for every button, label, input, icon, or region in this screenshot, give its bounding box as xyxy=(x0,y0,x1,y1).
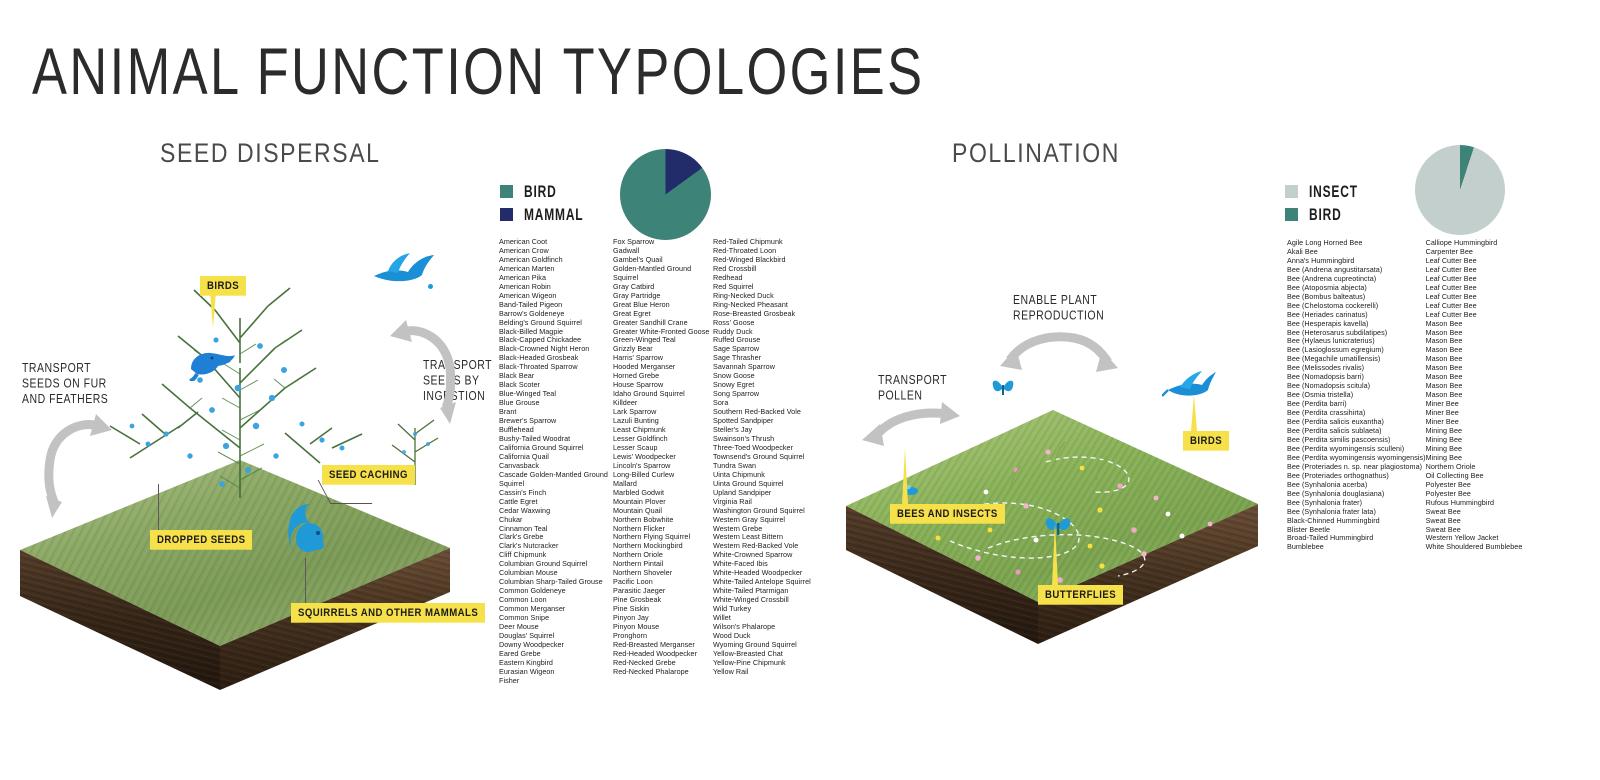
species-column-3: Red-Tailed ChipmunkRed-Throated LoonRed-… xyxy=(713,238,827,686)
species-column-1: American CootAmerican CrowAmerican Goldf… xyxy=(499,238,613,686)
arrow-line-1: TRANSPORT xyxy=(22,361,108,377)
legend-seed-dispersal: BIRD MAMMAL xyxy=(500,181,589,227)
species-item: Blue Grouse xyxy=(499,399,613,408)
section-title-seed-dispersal: SEED DISPERSAL xyxy=(160,137,381,169)
tag-butterflies-group: BUTTERFLIES xyxy=(1038,585,1123,602)
species-column-2: Fox SparrowGadwallGambel's QuailGolden-M… xyxy=(613,238,713,686)
legend-item-insect: INSECT xyxy=(1285,181,1362,201)
legend-label-insect: INSECT xyxy=(1309,182,1358,201)
tag-birds-group: BIRDS xyxy=(200,276,246,293)
legend-swatch-bird xyxy=(1285,208,1298,221)
section-title-pollination: POLLINATION xyxy=(952,137,1120,169)
arrow-line-2: SEEDS ON FUR xyxy=(22,377,108,393)
species-item: Song Sparrow xyxy=(713,390,827,399)
blue-squirrel-icon xyxy=(278,500,328,560)
species-item: Yellow Rail xyxy=(713,668,827,677)
pie-chart-seed-dispersal xyxy=(620,149,711,240)
tag-birds-stem xyxy=(1191,395,1197,431)
tag-birds-group-poll: BIRDS xyxy=(1183,431,1229,448)
panel-seed-dispersal: SEED DISPERSAL BIRD MAMMAL xyxy=(0,0,830,780)
species-list-pollination: Agile Long Horned BeeAkali BeeAnna's Hum… xyxy=(1287,239,1522,552)
blue-bird-perched-icon xyxy=(185,345,241,381)
species-item: White Shouldered Bumblebee xyxy=(1426,543,1523,552)
arrow-transport-seeds-ingestion-icon xyxy=(388,314,478,424)
tag-butterflies: BUTTERFLIES xyxy=(1038,585,1123,605)
tag-seed-caching-group: SEED CACHING xyxy=(322,465,415,482)
infographic-page: ANIMAL FUNCTION TYPOLOGIES SEED DISPERSA… xyxy=(0,0,1600,780)
arrow-line-2: REPRODUCTION xyxy=(1013,309,1104,325)
legend-item-bird: BIRD xyxy=(500,181,589,201)
dropped-seed-dot xyxy=(428,284,433,289)
legend-label-bird: BIRD xyxy=(524,182,557,201)
scene-seed-dispersal: BIRDS SEED CACHING DROPPED SEEDS SQUIRRE… xyxy=(10,230,480,690)
legend-item-mammal: MAMMAL xyxy=(500,204,589,224)
arrow-enable-plant-reproduction-icon xyxy=(988,324,1118,380)
blue-bird-flying-icon xyxy=(370,246,438,290)
tag-dropped-seeds-leader xyxy=(158,484,159,530)
tag-birds-stem xyxy=(210,292,216,328)
tag-squirrels-group: SQUIRRELS AND OTHER MAMMALS xyxy=(291,603,485,620)
tag-birds: BIRDS xyxy=(200,276,246,296)
arrow-transport-seeds-fur-icon xyxy=(24,410,114,520)
arrow-line-3: AND FEATHERS xyxy=(22,392,108,408)
tag-butterflies-stem xyxy=(1052,523,1058,585)
tag-dropped-seeds: DROPPED SEEDS xyxy=(150,530,252,550)
legend-swatch-bird xyxy=(500,185,513,198)
legend-swatch-insect xyxy=(1285,185,1298,198)
tag-squirrels-leader xyxy=(305,558,306,603)
tag-birds: BIRDS xyxy=(1183,431,1229,451)
species-item: Bumblebee xyxy=(1287,543,1426,552)
species-item: Red-Necked Phalarope xyxy=(613,668,713,677)
species-item: Fisher xyxy=(499,677,613,686)
species-column-1: Agile Long Horned BeeAkali BeeAnna's Hum… xyxy=(1287,239,1426,552)
tag-dropped-seeds-group: DROPPED SEEDS xyxy=(150,530,252,547)
arrow-label-enable-plant-reproduction: ENABLE PLANT REPRODUCTION xyxy=(1013,293,1104,324)
panel-pollination: POLLINATION INSECT BIRD xyxy=(830,0,1600,780)
species-list-seed-dispersal: American CootAmerican CrowAmerican Goldf… xyxy=(499,238,827,686)
arrow-transport-pollen-icon xyxy=(856,392,976,458)
legend-swatch-mammal xyxy=(500,208,513,221)
butterfly-icon-lower xyxy=(1043,512,1073,538)
pie-chart-pollination xyxy=(1415,145,1505,235)
legend-label-bird: BIRD xyxy=(1309,205,1342,224)
scene-pollination: BIRDS BEES AND INSECTS BUTTERFLIES ENABL… xyxy=(838,280,1268,640)
legend-label-mammal: MAMMAL xyxy=(524,205,583,224)
arrow-label-transport-seeds-fur: TRANSPORT SEEDS ON FUR AND FEATHERS xyxy=(22,361,108,408)
legend-pollination: INSECT BIRD xyxy=(1285,181,1362,227)
arrow-line-1: ENABLE PLANT xyxy=(1013,293,1104,309)
arrow-line-1: TRANSPORT xyxy=(878,373,947,389)
tag-squirrels-and-other-mammals: SQUIRRELS AND OTHER MAMMALS xyxy=(291,603,485,623)
tag-bees-and-insects: BEES AND INSECTS xyxy=(890,504,1005,524)
legend-item-bird: BIRD xyxy=(1285,204,1362,224)
tag-bees-and-insects-group: BEES AND INSECTS xyxy=(890,504,1005,521)
hummingbird-icon xyxy=(1162,368,1216,402)
species-column-2: Calliope HummingbirdCarpenter BeeLeaf Cu… xyxy=(1426,239,1523,552)
